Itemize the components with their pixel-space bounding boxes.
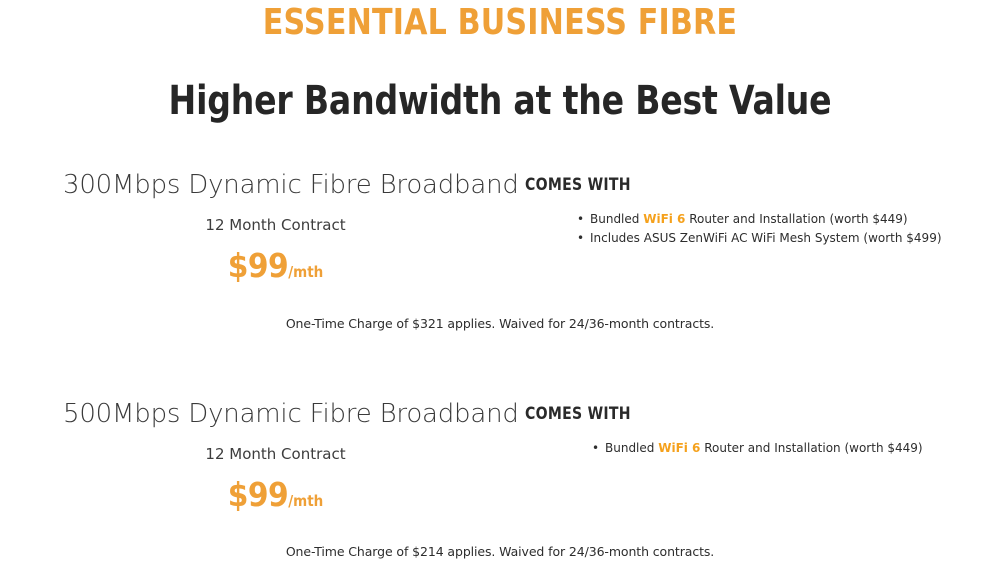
list-item: Bundled WiFi 6 Router and Installation (… (592, 439, 923, 458)
one-time-charge-note-500mbps: One-Time Charge of $214 applies. Waived … (0, 544, 1000, 559)
page-title: ESSENTIAL BUSINESS FIBRE (35, 2, 965, 43)
comes-with-heading: COMES WITH (525, 404, 631, 424)
one-time-charge-note-300mbps: One-Time Charge of $321 applies. Waived … (0, 316, 1000, 331)
plan-name: 500Mbps Dynamic Fibre Broadband (63, 399, 519, 429)
list-item: Bundled WiFi 6 Router and Installation (… (577, 210, 942, 229)
feature-text-prefix: Bundled (590, 212, 643, 226)
price-amount: $99 (228, 246, 288, 285)
feature-text-prefix: Bundled (605, 441, 658, 455)
feature-highlight: WiFi 6 (658, 441, 700, 455)
feature-text-suffix: Router and Installation (worth $449) (685, 212, 907, 226)
comes-with-heading: COMES WITH (525, 175, 631, 195)
feature-list: Bundled WiFi 6 Router and Installation (… (577, 210, 942, 248)
feature-highlight: WiFi 6 (643, 212, 685, 226)
feature-text-suffix: Router and Installation (worth $449) (700, 441, 922, 455)
plan-price: $99/mth (63, 475, 488, 514)
price-period: /mth (288, 263, 323, 281)
plan-name: 300Mbps Dynamic Fibre Broadband (63, 170, 519, 200)
plan-contract-term: 12 Month Contract (63, 445, 488, 463)
promo-page: ESSENTIAL BUSINESS FIBRE Higher Bandwidt… (0, 0, 1000, 588)
price-period: /mth (288, 492, 323, 510)
feature-list: Bundled WiFi 6 Router and Installation (… (592, 439, 923, 458)
plan-contract-term: 12 Month Contract (63, 216, 488, 234)
feature-text-prefix: Includes ASUS ZenWiFi AC WiFi Mesh Syste… (590, 231, 942, 245)
list-item: Includes ASUS ZenWiFi AC WiFi Mesh Syste… (577, 229, 942, 248)
page-subtitle: Higher Bandwidth at the Best Value (40, 78, 960, 124)
price-amount: $99 (228, 475, 288, 514)
plan-price: $99/mth (63, 246, 488, 285)
